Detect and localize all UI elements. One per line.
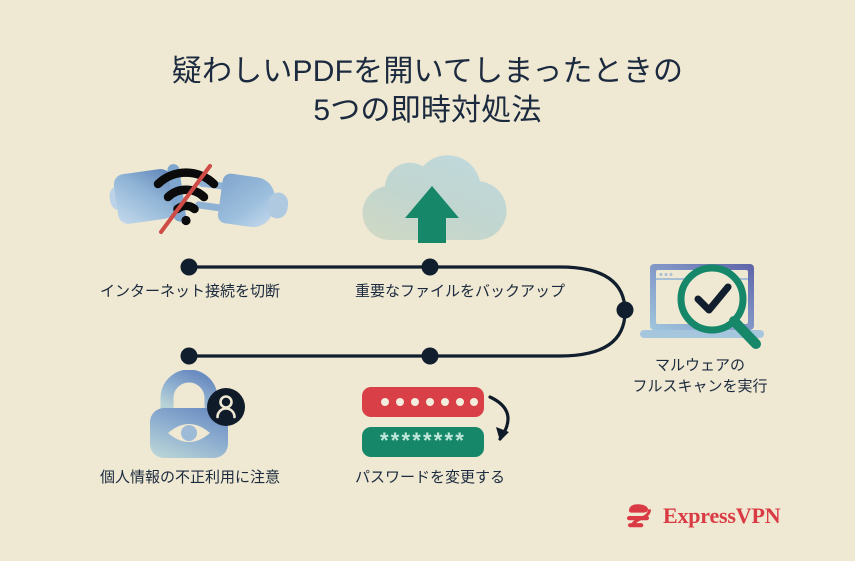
- step-label-privacy: 個人情報の不正利用に注意: [65, 467, 315, 488]
- step-label-backup: 重要なファイルをバックアップ: [310, 281, 610, 302]
- cloud-upload-icon: [358, 148, 508, 258]
- user-badge-icon: [207, 388, 245, 426]
- password-change-icon: ********: [350, 385, 530, 460]
- new-password-mask: ********: [380, 428, 466, 453]
- change-arrow-icon: [490, 397, 509, 441]
- node-disconnect: [181, 259, 198, 276]
- page-title-line-2: 5つの即時対処法: [0, 91, 855, 130]
- plug-disconnected-wifi-icon: [88, 150, 300, 255]
- wifi-icon: [158, 166, 214, 232]
- node-scan: [617, 302, 634, 319]
- padlock-eye-user-icon: [140, 370, 255, 465]
- node-privacy: [181, 348, 198, 365]
- node-backup: [422, 259, 439, 276]
- step-label-disconnect: インターネット接続を切断: [70, 281, 310, 302]
- expressvpn-logo: ExpressVPN: [624, 498, 784, 534]
- step-label-scan: マルウェアの フルスキャンを実行: [610, 355, 790, 397]
- node-password: [422, 348, 439, 365]
- expressvpn-e-mark-icon: [624, 501, 654, 531]
- lock-shackle: [167, 376, 211, 410]
- step-label-scan-line-2: フルスキャンを実行: [632, 378, 767, 395]
- laptop-magnifier-check-icon: [636, 258, 781, 353]
- new-password-field: ********: [362, 427, 484, 457]
- infographic-canvas: 疑わしいPDFを開いてしまったときの 5つの即時対処法: [0, 0, 855, 561]
- page-title-line-1: 疑わしいPDFを開いてしまったときの: [0, 52, 855, 91]
- step-label-scan-line-1: マルウェアの: [655, 357, 745, 374]
- old-password-field: [362, 387, 484, 417]
- expressvpn-wordmark: ExpressVPN: [663, 505, 780, 527]
- page-title: 疑わしいPDFを開いてしまったときの 5つの即時対処法: [0, 52, 855, 130]
- step-label-password: パスワードを変更する: [315, 467, 545, 488]
